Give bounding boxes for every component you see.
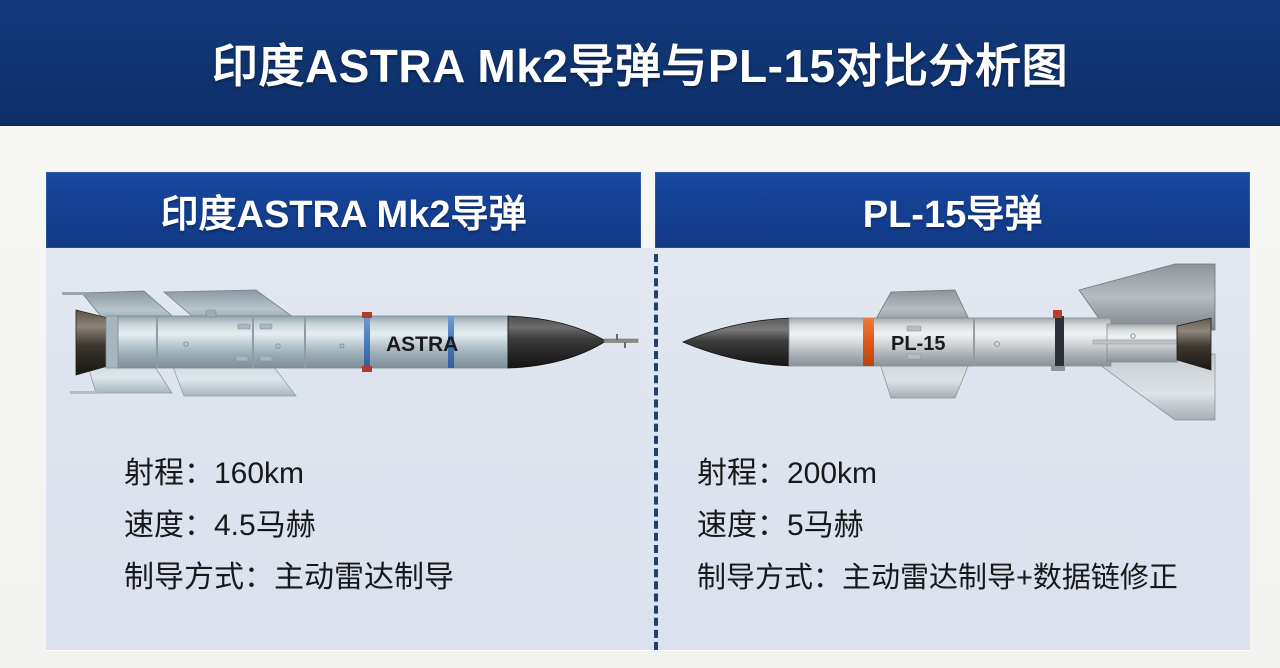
astra-hatch-2	[260, 324, 272, 329]
specs-pl15: 射程：200km 速度：5马赫 制导方式：主动雷达制导+数据链修正	[655, 448, 1250, 604]
astra-hatch-1	[238, 324, 250, 329]
astra-probe-vane-up	[616, 334, 618, 340]
pl15-body-label: PL-15	[891, 333, 945, 355]
spec-guidance-astra: 制导方式：主动雷达制导	[124, 552, 641, 604]
astra-fin-tip-lower	[70, 391, 98, 394]
astra-antenna-bump	[206, 310, 216, 317]
specs-astra: 射程：160km 速度：4.5马赫 制导方式：主动雷达制导	[46, 448, 641, 604]
spec-range-pl15: 射程：200km	[697, 448, 1250, 500]
panel-body-astra: ASTRA 射程：160km 速度：4.5马赫 制导方式：主动雷达制导	[46, 248, 641, 650]
astra-marker-bottom	[362, 366, 372, 372]
spec-speed-pl15: 速度：5马赫	[697, 500, 1250, 552]
panel-astra: 印度ASTRA Mk2导弹	[46, 172, 641, 650]
astra-hatch-4	[260, 356, 272, 361]
astra-hatch-3	[236, 356, 248, 361]
astra-band-1	[364, 316, 370, 368]
pl15-svg: PL-15	[655, 248, 1250, 438]
page-title: 印度ASTRA Mk2导弹与PL-15对比分析图	[212, 30, 1068, 96]
title-banner: 印度ASTRA Mk2导弹与PL-15对比分析图	[0, 0, 1280, 126]
panel-body-pl15: PL-15	[655, 248, 1250, 650]
pl15-hatch-2	[907, 354, 921, 359]
panel-row: 印度ASTRA Mk2导弹	[46, 172, 1250, 650]
astra-svg: ASTRA	[46, 248, 641, 438]
astra-fin-tip-upper	[62, 292, 86, 295]
astra-seam-1	[156, 316, 158, 368]
pl15-seam-1	[973, 318, 975, 366]
astra-nose-cone	[508, 316, 606, 368]
spec-speed-astra: 速度：4.5马赫	[124, 500, 641, 552]
pl15-red-marker	[1053, 310, 1062, 318]
pl15-orange-band	[863, 318, 874, 366]
astra-body-label: ASTRA	[386, 333, 458, 356]
pl15-aft-rail	[1093, 340, 1179, 344]
pl15-collar-lug	[1051, 366, 1065, 371]
comparison-board: 印度ASTRA Mk2导弹	[46, 172, 1250, 650]
astra-seam-3	[304, 316, 306, 368]
astra-probe-vane-down	[624, 342, 626, 348]
pl15-hatch-1	[907, 326, 921, 331]
missile-illustration-pl15: PL-15	[655, 248, 1250, 438]
panel-pl15: PL-15导弹	[655, 172, 1250, 650]
pl15-nose-cone	[683, 318, 791, 366]
panel-header-astra: 印度ASTRA Mk2导弹	[46, 172, 641, 248]
spec-range-astra: 射程：160km	[124, 448, 641, 500]
panel-divider	[654, 254, 658, 650]
astra-pitot-probe	[604, 339, 638, 343]
panel-title-pl15: PL-15导弹	[863, 183, 1042, 238]
spec-guidance-pl15: 制导方式：主动雷达制导+数据链修正	[697, 552, 1250, 604]
missile-illustration-astra: ASTRA	[46, 248, 641, 438]
astra-marker-top	[362, 312, 372, 318]
pl15-dark-collar	[1055, 316, 1064, 368]
astra-seam-2	[252, 316, 254, 368]
astra-nozzle	[76, 310, 108, 375]
panel-title-astra: 印度ASTRA Mk2导弹	[161, 183, 527, 238]
panel-header-pl15: PL-15导弹	[655, 172, 1250, 248]
